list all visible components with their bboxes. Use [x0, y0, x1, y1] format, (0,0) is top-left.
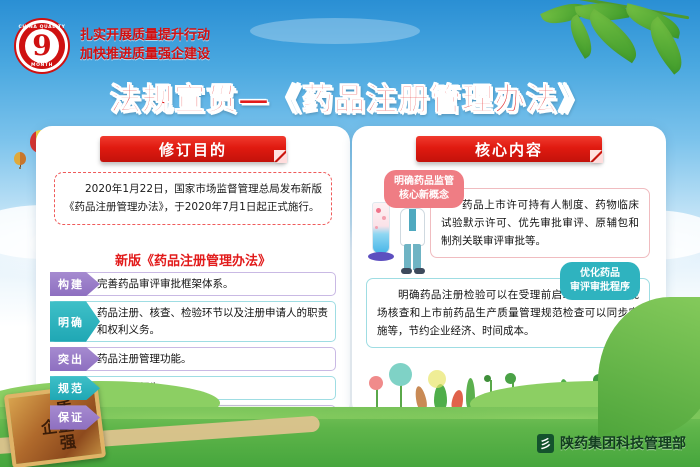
flower-bloom — [428, 370, 446, 388]
slogan-line-2: 加快推进质量强企建设 — [80, 46, 210, 65]
poster-root: CHINA QUALITY MONTH 9 扎实开展质量提升行动 加快推进质量强… — [0, 0, 700, 467]
revision-intro-text: 2020年1月22日，国家市场监督管理总局发布新版《药品注册管理办法》，于202… — [64, 180, 322, 216]
optimize-process-tag-line2: 审评审批程序 — [570, 281, 630, 295]
org-name: 陕药集团科技管理部 — [560, 433, 686, 453]
seal-glyph: 9 — [16, 20, 68, 72]
footer-org: 彡 陕药集团科技管理部 — [537, 433, 686, 453]
hot-air-balloon-small — [14, 152, 26, 169]
core-concept-text: 药品上市许可持有人制度、药物临床试验默示许可、优先审批审评、原辅包和制剂关联审评… — [441, 196, 639, 250]
core-concept-tag: 明确药品监管 核心新概念 — [384, 170, 464, 208]
right-panel-banner-label: 核心内容 — [475, 139, 543, 160]
left-panel-banner: 修订目的 — [100, 136, 286, 162]
flower-bloom — [484, 375, 491, 382]
page-title: 法规宣贯—《药品注册管理办法》 — [0, 74, 700, 119]
list-item: 构建 完善药品审评审批框架体系。 — [50, 272, 336, 296]
right-panel-banner: 核心内容 — [416, 136, 602, 162]
flower-bloom — [505, 373, 516, 384]
revision-intro-box: 2020年1月22日，国家市场监督管理总局发布新版《药品注册管理办法》，于202… — [54, 172, 332, 225]
quality-month-seal-icon: CHINA QUALITY MONTH 9 — [14, 18, 70, 74]
ribbon-fold-icon — [274, 150, 286, 162]
panel-revision-purpose: 修订目的 2020年1月22日，国家市场监督管理总局发布新版《药品注册管理办法》… — [36, 126, 350, 418]
slogan-line-1: 扎实开展质量提升行动 — [80, 27, 210, 46]
cloud-shape — [250, 18, 420, 44]
list-item: 突出 药品注册管理功能。 — [50, 347, 336, 371]
optimize-process-tag-line1: 优化药品 — [570, 267, 630, 281]
flower-bloom — [369, 376, 383, 390]
optimize-process-tag: 优化药品 审评审批程序 — [560, 262, 640, 300]
left-panel-subtitle: 新版《药品注册管理办法》 — [36, 250, 350, 269]
left-panel-banner-label: 修订目的 — [159, 139, 227, 160]
org-logo-icon: 彡 — [537, 434, 554, 453]
ribbon-fold-icon — [590, 150, 602, 162]
flower-bloom — [389, 363, 412, 386]
core-concept-tag-line2: 核心新概念 — [394, 189, 454, 203]
vial-bubble — [376, 208, 381, 213]
core-concept-tag-line1: 明确药品监管 — [394, 175, 454, 189]
list-item: 明确 药品注册、核查、检验环节以及注册申请人的职责和权利义务。 — [50, 301, 336, 342]
header-brand: CHINA QUALITY MONTH 9 扎实开展质量提升行动 加快推进质量强… — [14, 18, 210, 74]
vial-bubble — [382, 216, 386, 220]
header-slogan: 扎实开展质量提升行动 加快推进质量强企建设 — [80, 27, 210, 65]
vial-bubble — [375, 226, 378, 229]
vial-base — [368, 252, 394, 261]
